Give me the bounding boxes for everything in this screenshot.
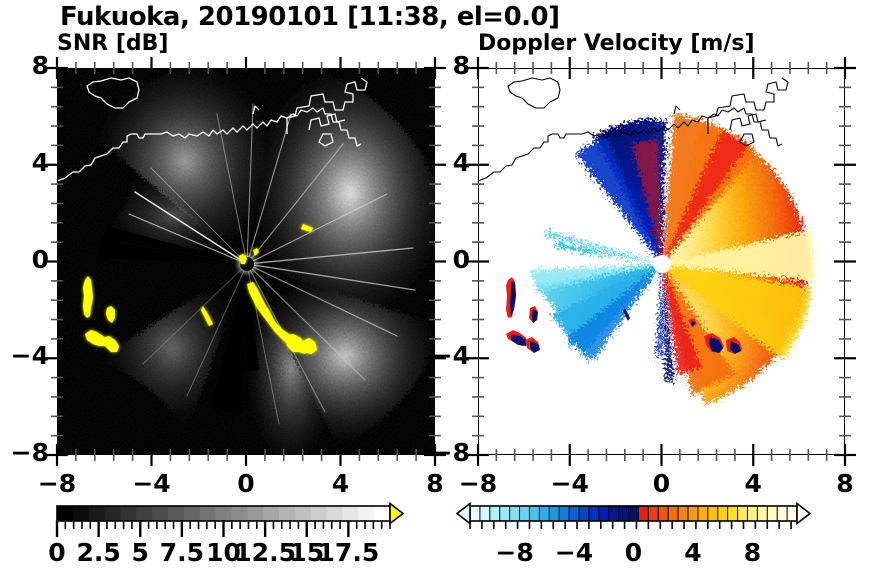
doppler-ytick-label: −4	[420, 341, 470, 370]
snr-colorbar-cell	[216, 506, 232, 521]
doppler-colorbar-cell	[738, 506, 748, 521]
snr-xtick-label: 0	[206, 469, 286, 498]
doppler-colorbar-cell	[579, 506, 589, 521]
snr-xtick-label: 4	[301, 469, 381, 498]
doppler-colorbar-cell	[529, 506, 539, 521]
doppler-ytick-label: 8	[420, 51, 470, 80]
snr-colorbar-cell	[57, 506, 73, 521]
snr-xtick-label: −8	[17, 469, 97, 498]
snr-colorbar-cell	[89, 506, 105, 521]
doppler-colorbar-cell	[559, 506, 569, 521]
snr-colorbar-cell	[327, 506, 343, 521]
doppler-colorbar-cell	[658, 506, 668, 521]
snr-colorbar	[57, 504, 403, 538]
doppler-colorbar-cell	[638, 506, 648, 521]
snr-ytick-label: −8	[0, 438, 49, 467]
doppler-colorbar	[457, 504, 810, 530]
doppler-colorbar-cell	[688, 506, 698, 521]
snr-colorbar-cell	[342, 506, 358, 521]
snr-ytick-label: 8	[0, 51, 49, 80]
doppler-xtick-label: −4	[530, 469, 610, 498]
snr-colorbar-cell	[311, 506, 327, 521]
doppler-colorbar-cell	[520, 506, 530, 521]
doppler-ytick-label: −8	[420, 438, 470, 467]
snr-colorbar-cell	[184, 506, 200, 521]
doppler-ytick-label: 0	[420, 245, 470, 274]
doppler-colorbar-cell	[757, 506, 767, 521]
snr-xtick-label: −4	[112, 469, 192, 498]
doppler-colorbar-cell	[629, 506, 639, 521]
snr-colorbar-cell	[105, 506, 121, 521]
snr-colorbar-label: 17.5	[303, 538, 393, 567]
doppler-colorbar-cell	[777, 506, 787, 521]
doppler-colorbar-cell	[718, 506, 728, 521]
snr-colorbar-cell	[168, 506, 184, 521]
doppler-colorbar-cell	[728, 506, 738, 521]
snr-colorbar-cell	[295, 506, 311, 521]
doppler-ytick-label: 4	[420, 148, 470, 177]
doppler-colorbar-cell	[609, 506, 619, 521]
snr-colorbar-cell	[247, 506, 263, 521]
doppler-xtick-label: 0	[622, 469, 702, 498]
snr-colorbar-cell	[120, 506, 136, 521]
doppler-colorbar-label: 8	[707, 538, 797, 567]
snr-ytick-label: 0	[0, 245, 49, 274]
doppler-xtick-label: 8	[805, 469, 870, 498]
snr-colorbar-cell	[231, 506, 247, 521]
doppler-colorbar-cell	[470, 506, 480, 521]
doppler-colorbar-cell	[747, 506, 757, 521]
snr-colorbar-cell	[358, 506, 374, 521]
doppler-colorbar-cell	[787, 506, 797, 521]
doppler-xtick-label: 4	[713, 469, 793, 498]
doppler-colorbar-cell	[767, 506, 777, 521]
snr-ytick-label: 4	[0, 148, 49, 177]
snr-colorbar-cell	[152, 506, 168, 521]
snr-colorbar-over-arrow	[390, 504, 403, 524]
doppler-colorbar-cell	[569, 506, 579, 521]
snr-colorbar-cell	[263, 506, 279, 521]
doppler-xtick-label: −8	[438, 469, 518, 498]
doppler-colorbar-cell	[599, 506, 609, 521]
doppler-colorbar-under-arrow	[457, 504, 470, 524]
doppler-colorbar-cell	[619, 506, 629, 521]
doppler-colorbar-cell	[708, 506, 718, 521]
doppler-colorbar-cell	[589, 506, 599, 521]
doppler-colorbar-cell	[500, 506, 510, 521]
snr-colorbar-cell	[279, 506, 295, 521]
doppler-colorbar-cell	[549, 506, 559, 521]
doppler-colorbar-cell	[698, 506, 708, 521]
doppler-colorbar-cell	[490, 506, 500, 521]
snr-ytick-label: −4	[0, 341, 49, 370]
doppler-colorbar-cell	[539, 506, 549, 521]
doppler-colorbar-cell	[648, 506, 658, 521]
snr-colorbar-cell	[136, 506, 152, 521]
doppler-colorbar-over-arrow	[797, 504, 810, 524]
snr-colorbar-cell	[374, 506, 390, 521]
doppler-colorbar-cell	[668, 506, 678, 521]
snr-colorbar-cell	[73, 506, 89, 521]
doppler-colorbar-cell	[480, 506, 490, 521]
doppler-colorbar-cell	[678, 506, 688, 521]
snr-colorbar-cell	[200, 506, 216, 521]
doppler-colorbar-cell	[510, 506, 520, 521]
